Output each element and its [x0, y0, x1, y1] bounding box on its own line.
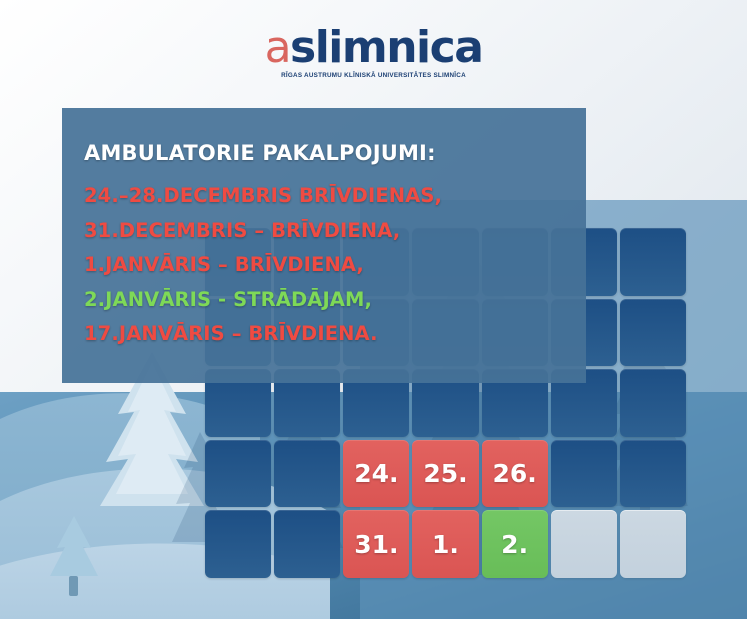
calendar-cell-24[interactable]: 24.: [343, 440, 409, 508]
calendar-cell[interactable]: [620, 510, 686, 578]
calendar-cell-2[interactable]: 2.: [482, 510, 548, 578]
calendar-cell[interactable]: [620, 228, 686, 296]
calendar-cell-label: 26.: [492, 459, 536, 488]
schedule-line-3: 1.JANVĀRIS – BRĪVDIENA,: [84, 255, 586, 275]
calendar-cell-label: 1.: [432, 530, 459, 559]
panel-title: AMBULATORIE PAKALPOJUMI:: [84, 141, 586, 165]
calendar-cell[interactable]: [620, 299, 686, 367]
calendar-cell-1[interactable]: 1.: [412, 510, 478, 578]
calendar-cell[interactable]: [205, 510, 271, 578]
calendar-cell-label: 2.: [501, 530, 528, 559]
calendar-cell-31[interactable]: 31.: [343, 510, 409, 578]
calendar-cell-label: 31.: [354, 530, 398, 559]
logo-word-text: slimnica: [290, 22, 482, 73]
schedule-line-5: 17.JANVĀRIS – BRĪVDIENA.: [84, 324, 586, 344]
brand-logo: aslimnica RĪGAS AUSTRUMU KLĪNISKĀ UNIVER…: [0, 26, 747, 79]
fir-tree-small: [50, 516, 98, 596]
announcement-panel: AMBULATORIE PAKALPOJUMI: 24.–28.DECEMBRI…: [62, 108, 586, 383]
calendar-cell-label: 25.: [423, 459, 467, 488]
poster-canvas: 24. 25. 26. 31. 1. 2. AMBULATORIE PAKALP…: [0, 0, 747, 619]
calendar-cell-label: 24.: [354, 459, 398, 488]
calendar-cell-25[interactable]: 25.: [412, 440, 478, 508]
calendar-cell[interactable]: [551, 510, 617, 578]
calendar-cell-26[interactable]: 26.: [482, 440, 548, 508]
calendar-cell[interactable]: [205, 440, 271, 508]
schedule-line-4: 2.JANVĀRIS - STRĀDĀJAM,: [84, 290, 586, 310]
calendar-cell[interactable]: [551, 440, 617, 508]
logo-a-mark-icon: a: [265, 22, 290, 73]
logo-subtitle: RĪGAS AUSTRUMU KLĪNISKĀ UNIVERSITĀTES SL…: [0, 72, 747, 79]
calendar-cell[interactable]: [620, 369, 686, 437]
calendar-cell[interactable]: [274, 510, 340, 578]
schedule-line-1: 24.–28.DECEMBRIS BRĪVDIENAS,: [84, 186, 586, 206]
calendar-cell[interactable]: [620, 440, 686, 508]
logo-wordmark: aslimnica: [265, 26, 483, 70]
schedule-line-2: 31.DECEMBRIS – BRĪVDIENA,: [84, 221, 586, 241]
calendar-cell[interactable]: [274, 440, 340, 508]
